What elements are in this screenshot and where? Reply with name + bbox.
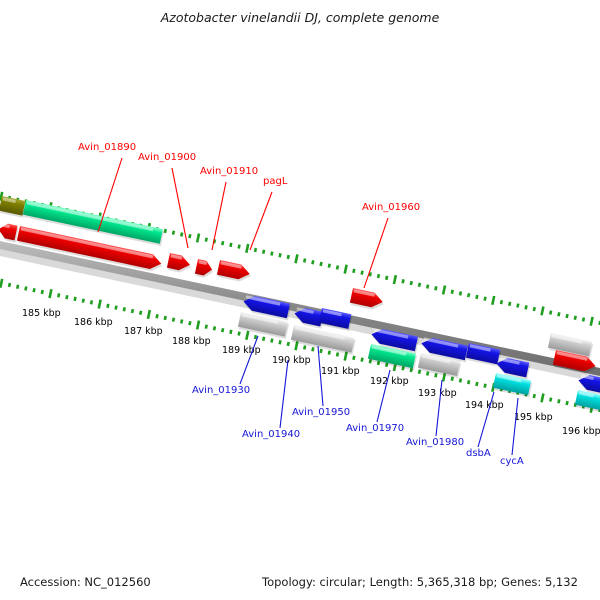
ruler-minor-dot: [123, 307, 126, 311]
ruler-minor-dot: [73, 297, 76, 301]
ruler-minor-dot: [500, 300, 503, 304]
gene-label-leader: [212, 182, 226, 250]
ruler-tick-label: 186 kbp: [74, 317, 113, 328]
ruler-minor-dot: [319, 349, 322, 353]
ruler-minor-dot: [336, 352, 339, 356]
ruler-tick-label: 185 kbp: [22, 308, 61, 319]
ruler-tick-label: 193 kbp: [418, 388, 457, 399]
ruler-minor-dot: [557, 312, 560, 316]
ruler-minor-dot: [172, 317, 175, 321]
gene-label-avin_01910[interactable]: Avin_01910: [200, 166, 258, 177]
ruler-minor-dot: [270, 338, 273, 342]
ruler-minor-dot: [262, 337, 265, 341]
ruler-minor-dot: [164, 316, 167, 320]
gene-label-cyca[interactable]: cycA: [500, 456, 524, 467]
ruler-minor-dot: [139, 311, 142, 315]
ruler-minor-dot: [155, 314, 158, 318]
genome-stats-text: Topology: circular; Length: 5,365,318 bp…: [261, 575, 578, 589]
ruler-tick-label: 191 kbp: [321, 366, 360, 377]
ruler-minor-dot: [41, 290, 44, 294]
ruler-minor-dot: [229, 243, 232, 247]
gene-label-dsba[interactable]: dsbA: [466, 448, 491, 459]
ruler-minor-dot: [278, 340, 281, 344]
gene-label-pagl[interactable]: pagL: [263, 176, 288, 187]
ruler-tick-label: 195 kbp: [514, 412, 553, 423]
ruler-major-tick: [343, 264, 347, 273]
ruler-minor-dot: [270, 251, 273, 255]
ruler-major-tick: [0, 279, 3, 288]
ruler-minor-dot: [16, 285, 19, 289]
ruler-minor-dot: [410, 281, 413, 285]
ruler-minor-dot: [164, 229, 167, 233]
ruler-minor-dot: [90, 300, 93, 304]
ruler-tick-label: 192 kbp: [370, 376, 409, 387]
ruler-minor-dot: [434, 286, 437, 290]
ruler-minor-dot: [328, 263, 331, 267]
ruler-minor-dot: [82, 298, 85, 302]
ruler-major-tick: [540, 393, 544, 402]
ruler-minor-dot: [237, 244, 240, 248]
ruler-tick-label: 190 kbp: [272, 355, 311, 366]
ruler-minor-dot: [467, 293, 470, 297]
ruler-minor-dot: [516, 303, 519, 307]
gene-label-leader: [364, 218, 388, 288]
gene-label-leader: [240, 336, 258, 384]
ruler-tick-label: 194 kbp: [465, 400, 504, 411]
gene-label-avin_01980[interactable]: Avin_01980: [406, 437, 464, 448]
ruler-minor-dot: [533, 394, 536, 398]
ruler-minor-dot: [221, 328, 224, 332]
gene-label-leader: [512, 398, 518, 455]
page-title: Azotobacter vinelandii DJ, complete geno…: [160, 10, 440, 25]
ruler-minor-dot: [311, 260, 314, 264]
ruler-major-tick: [442, 285, 446, 294]
gene-label-leader: [280, 360, 288, 428]
ruler-minor-dot: [188, 321, 191, 325]
ruler-minor-dot: [483, 383, 486, 387]
ruler-minor-dot: [451, 290, 454, 294]
gene-label-avin_01900[interactable]: Avin_01900: [138, 152, 196, 163]
ruler-major-tick: [196, 320, 200, 329]
ruler-minor-dot: [319, 262, 322, 266]
ruler-major-tick: [491, 296, 495, 305]
gene-label-avin_01970[interactable]: Avin_01970: [346, 423, 404, 434]
ruler-minor-dot: [262, 250, 265, 254]
ruler-major-tick: [294, 254, 298, 263]
ruler-minor-dot: [237, 331, 240, 335]
gene-label-avin_01890[interactable]: Avin_01890: [78, 142, 136, 153]
ruler-minor-dot: [254, 248, 257, 252]
ruler-major-tick: [245, 244, 249, 253]
ruler-major-tick: [147, 310, 151, 319]
ruler-major-tick: [97, 299, 101, 308]
ruler-minor-dot: [533, 307, 536, 311]
ruler-minor-dot: [303, 258, 306, 262]
ruler-major-tick: [589, 317, 593, 326]
ruler-minor-dot: [213, 326, 216, 330]
gene-label-leader: [250, 192, 272, 250]
ruler-minor-dot: [172, 230, 175, 234]
ruler-minor-dot: [303, 345, 306, 349]
ruler-minor-dot: [459, 378, 462, 382]
gene-feature[interactable]: [0, 222, 19, 243]
ruler-major-tick: [393, 275, 397, 284]
ruler-minor-dot: [352, 269, 355, 273]
ruler-minor-dot: [483, 296, 486, 300]
ruler-tick-label: 188 kbp: [172, 336, 211, 347]
gene-feature[interactable]: [216, 260, 252, 284]
genome-map-svg: Azotobacter vinelandii DJ, complete geno…: [0, 0, 600, 600]
ruler-minor-dot: [287, 342, 290, 346]
accession-text: Accession: NC_012560: [20, 575, 151, 589]
ruler-minor-dot: [549, 397, 552, 401]
ruler-minor-dot: [8, 283, 11, 287]
ruler-minor-dot: [426, 284, 429, 288]
ruler-minor-dot: [287, 255, 290, 259]
ruler-minor-dot: [549, 310, 552, 314]
ruler-minor-dot: [360, 357, 363, 361]
ruler-minor-dot: [459, 291, 462, 295]
ruler-minor-dot: [574, 316, 577, 320]
ruler-minor-dot: [418, 283, 421, 287]
gene-feature[interactable]: [318, 308, 352, 331]
ruler-minor-dot: [557, 399, 560, 403]
gene-feature[interactable]: [194, 259, 215, 279]
gene-feature[interactable]: [349, 288, 385, 312]
ruler-minor-dot: [24, 286, 27, 290]
ruler-minor-dot: [180, 232, 183, 236]
ruler-minor-dot: [475, 382, 478, 386]
gene-label-avin_01950[interactable]: Avin_01950: [292, 407, 350, 418]
ruler-minor-dot: [32, 288, 35, 292]
ruler-minor-dot: [582, 317, 585, 321]
ruler-minor-dot: [352, 356, 355, 360]
ruler-minor-dot: [114, 305, 117, 309]
gene-label-avin_01940[interactable]: Avin_01940: [242, 429, 300, 440]
ruler-minor-dot: [565, 401, 568, 405]
ruler-tick-label: 189 kbp: [222, 345, 261, 356]
ruler-major-tick: [245, 331, 249, 340]
ruler-minor-dot: [278, 253, 281, 257]
ruler-minor-dot: [221, 241, 224, 245]
genome-map-viewer: Azotobacter vinelandii DJ, complete geno…: [0, 0, 600, 600]
ruler-minor-dot: [106, 304, 109, 308]
ruler-minor-dot: [328, 350, 331, 354]
ruler-tick-label: 187 kbp: [124, 326, 163, 337]
ruler-minor-dot: [57, 293, 60, 297]
ruler-minor-dot: [475, 295, 478, 299]
ruler-minor-dot: [65, 295, 68, 299]
gene-label-leader: [172, 168, 188, 248]
ruler-major-tick: [48, 289, 52, 298]
ruler-minor-dot: [311, 347, 314, 351]
ruler-minor-dot: [205, 237, 208, 241]
ruler-minor-dot: [131, 309, 134, 313]
ruler-minor-dot: [385, 276, 388, 280]
ruler-minor-dot: [188, 234, 191, 238]
ruler-minor-dot: [336, 265, 339, 269]
gene-label-avin_01960[interactable]: Avin_01960: [362, 202, 420, 213]
ruler-minor-dot: [401, 279, 404, 283]
ruler-minor-dot: [565, 314, 568, 318]
ruler-minor-dot: [377, 274, 380, 278]
gene-label-avin_01930[interactable]: Avin_01930: [192, 385, 250, 396]
ruler-major-tick: [196, 233, 200, 242]
ruler-minor-dot: [360, 270, 363, 274]
ruler-minor-dot: [180, 319, 183, 323]
ruler-minor-dot: [508, 302, 511, 306]
ruler-minor-dot: [524, 305, 527, 309]
ruler-minor-dot: [229, 330, 232, 334]
ruler-major-tick: [540, 306, 544, 315]
ruler-minor-dot: [205, 324, 208, 328]
gene-feature[interactable]: [166, 253, 193, 275]
ruler-minor-dot: [467, 380, 470, 384]
ruler-tick-label: 196 kbp: [562, 426, 600, 437]
